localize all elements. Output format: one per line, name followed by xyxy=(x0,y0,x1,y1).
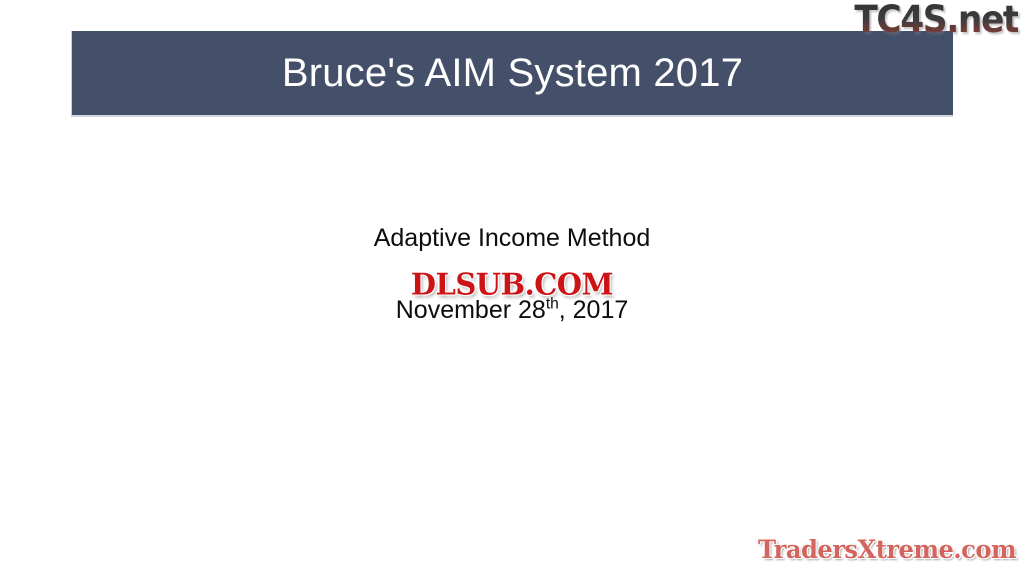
slide-subtitle: Adaptive Income Method xyxy=(0,222,1024,254)
title-banner: Bruce's AIM System 2017 xyxy=(71,31,953,117)
date-month-day: November 28 xyxy=(396,296,546,324)
date-ordinal-suffix: th xyxy=(546,296,559,313)
slide-date: November 28th, 2017 xyxy=(0,294,1024,326)
tradersxtreme-watermark: TradersXtreme.com xyxy=(758,535,1016,564)
slide-title: Bruce's AIM System 2017 xyxy=(282,53,743,93)
slide-content-block: Adaptive Income Method November 28th, 20… xyxy=(0,222,1024,326)
presentation-slide: Bruce's AIM System 2017 Adaptive Income … xyxy=(0,0,1024,576)
date-year: , 2017 xyxy=(559,296,629,324)
